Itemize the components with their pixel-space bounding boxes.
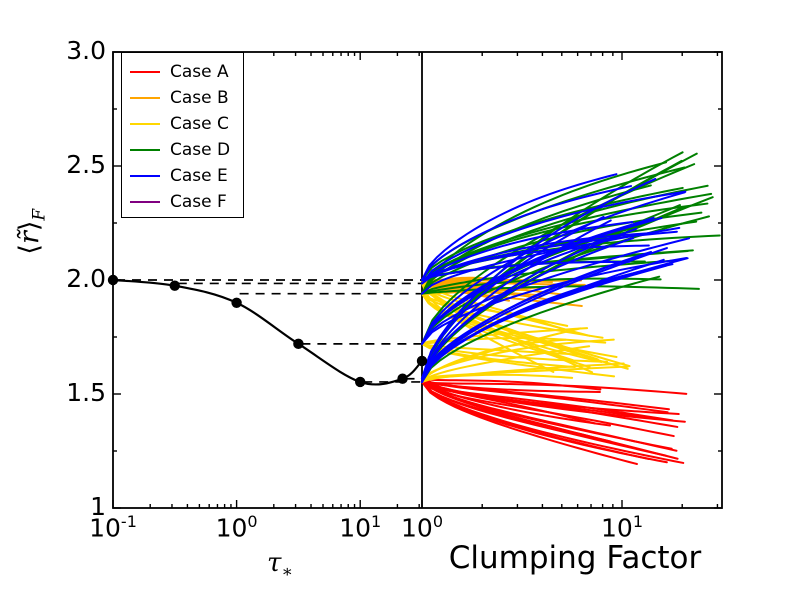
legend-item-case-d[interactable]: Case D <box>122 137 243 163</box>
legend: Case ACase BCase CCase DCase ECase F <box>121 52 244 218</box>
legend-color-swatch <box>130 149 160 151</box>
legend-color-swatch <box>130 71 160 73</box>
case-curves <box>422 152 720 464</box>
y-axis-label: ⟨r̃⟩F <box>2 214 62 249</box>
x-axis-label-right: Clumping Factor <box>430 540 720 576</box>
x-tick-label: 101 <box>582 512 662 542</box>
legend-label: Case C <box>170 114 229 134</box>
y-tick-label: 3.0 <box>40 36 106 65</box>
dashed-connector-lines <box>116 280 422 382</box>
legend-label: Case E <box>170 166 228 186</box>
y-axis-label-subscript: F <box>30 209 50 221</box>
x-tick-label: 100 <box>197 512 277 542</box>
y-tick-label: 1.5 <box>40 378 106 407</box>
legend-color-swatch <box>130 175 160 177</box>
legend-color-swatch <box>130 201 160 203</box>
y-tick-label: 2.0 <box>40 264 106 293</box>
data-point-marker <box>293 339 303 349</box>
data-point-marker <box>397 374 407 384</box>
data-point-marker <box>231 298 241 308</box>
case-curve <box>422 364 624 382</box>
legend-label: Case F <box>170 192 227 212</box>
legend-label: Case B <box>170 88 229 108</box>
legend-item-case-e[interactable]: Case E <box>122 163 243 189</box>
x-tick-label: 10-1 <box>73 512 153 542</box>
data-point-marker <box>355 377 365 387</box>
legend-label: Case D <box>170 140 230 160</box>
plot-canvas <box>0 0 800 600</box>
x-tick-label: 100 <box>382 512 462 542</box>
data-point-marker <box>170 281 180 291</box>
legend-color-swatch <box>130 123 160 125</box>
legend-label: Case A <box>170 62 229 82</box>
y-tick-label: 2.5 <box>40 150 106 179</box>
legend-item-case-b[interactable]: Case B <box>122 85 243 111</box>
x-axis-label-left: τ∗ <box>220 548 340 582</box>
chart-figure: ⟨r̃⟩F τ∗ Clumping Factor 11.52.02.53.0 1… <box>0 0 800 600</box>
left-panel-curve <box>108 275 427 387</box>
legend-item-case-a[interactable]: Case A <box>122 59 243 85</box>
data-point-marker <box>108 275 118 285</box>
legend-item-case-f[interactable]: Case F <box>122 189 243 215</box>
tau-response-curve <box>113 280 422 384</box>
legend-color-swatch <box>130 97 160 99</box>
data-point-marker <box>417 356 427 366</box>
legend-item-case-c[interactable]: Case C <box>122 111 243 137</box>
